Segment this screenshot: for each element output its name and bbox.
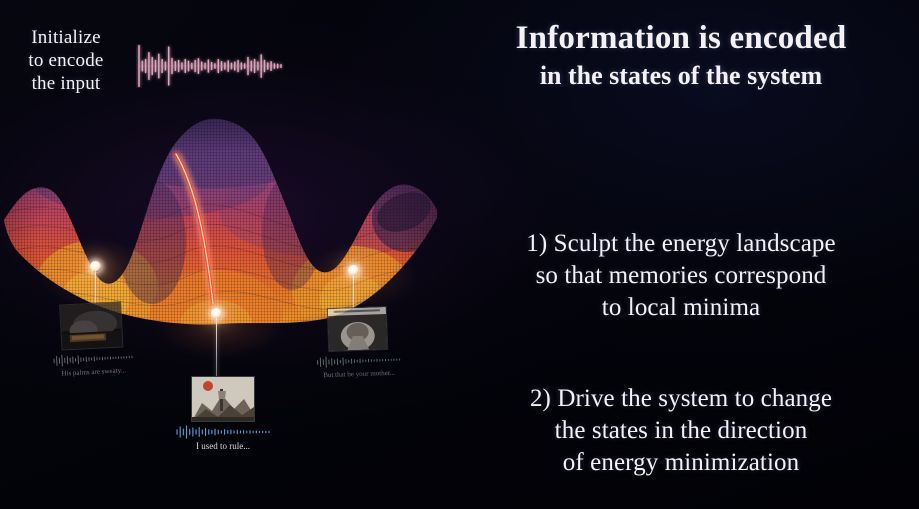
point-2: 2) Drive the system to change the states… xyxy=(448,383,914,479)
point-2-line-2: the states in the direction xyxy=(448,415,914,447)
input-audio-waveform xyxy=(136,44,284,88)
memory-thumbnail-left xyxy=(59,301,123,350)
state-stem-center xyxy=(216,318,217,380)
memory-waveform-right xyxy=(315,352,401,369)
point-1-line-3: to local minima xyxy=(448,292,914,324)
memory-caption-left: His palms are sweaty... xyxy=(53,366,135,378)
point-2-line-1: 2) Drive the system to change xyxy=(448,383,914,415)
memory-waveform-center xyxy=(175,425,271,439)
memory-waveform-left xyxy=(52,350,135,368)
memory-card-center[interactable]: I used to rule... xyxy=(175,376,271,451)
memory-thumbnail-center xyxy=(191,376,255,422)
point-1: 1) Sculpt the energy landscape so that m… xyxy=(448,228,914,324)
point-2-line-3: of energy minimization xyxy=(448,447,914,479)
memory-card-left[interactable]: His palms are sweaty... xyxy=(49,301,135,378)
slide-root: Initialize to encode the input xyxy=(0,0,919,509)
state-stem-left xyxy=(95,271,96,304)
slide-headline: Information is encoded in the states of … xyxy=(448,20,914,91)
state-stem-right xyxy=(353,275,354,309)
memory-caption-right: But that be your mother... xyxy=(316,368,402,379)
state-ball-center xyxy=(211,308,222,319)
state-ball-right xyxy=(348,265,359,276)
memory-thumbnail-right xyxy=(327,306,388,352)
headline-line-2: in the states of the system xyxy=(448,60,914,91)
initialize-caption-line-1: Initialize xyxy=(2,26,130,49)
point-1-line-1: 1) Sculpt the energy landscape xyxy=(448,228,914,260)
headline-line-1: Information is encoded xyxy=(448,20,914,57)
point-1-line-2: so that memories correspond xyxy=(448,260,914,292)
energy-landscape-surface xyxy=(0,92,440,332)
initialize-caption-line-2: to encode xyxy=(2,49,130,72)
memory-card-right[interactable]: But that be your mother... xyxy=(314,306,402,380)
state-ball-left xyxy=(90,261,101,272)
initialize-caption: Initialize to encode the input xyxy=(2,26,130,96)
memory-caption-center: I used to rule... xyxy=(175,441,271,451)
